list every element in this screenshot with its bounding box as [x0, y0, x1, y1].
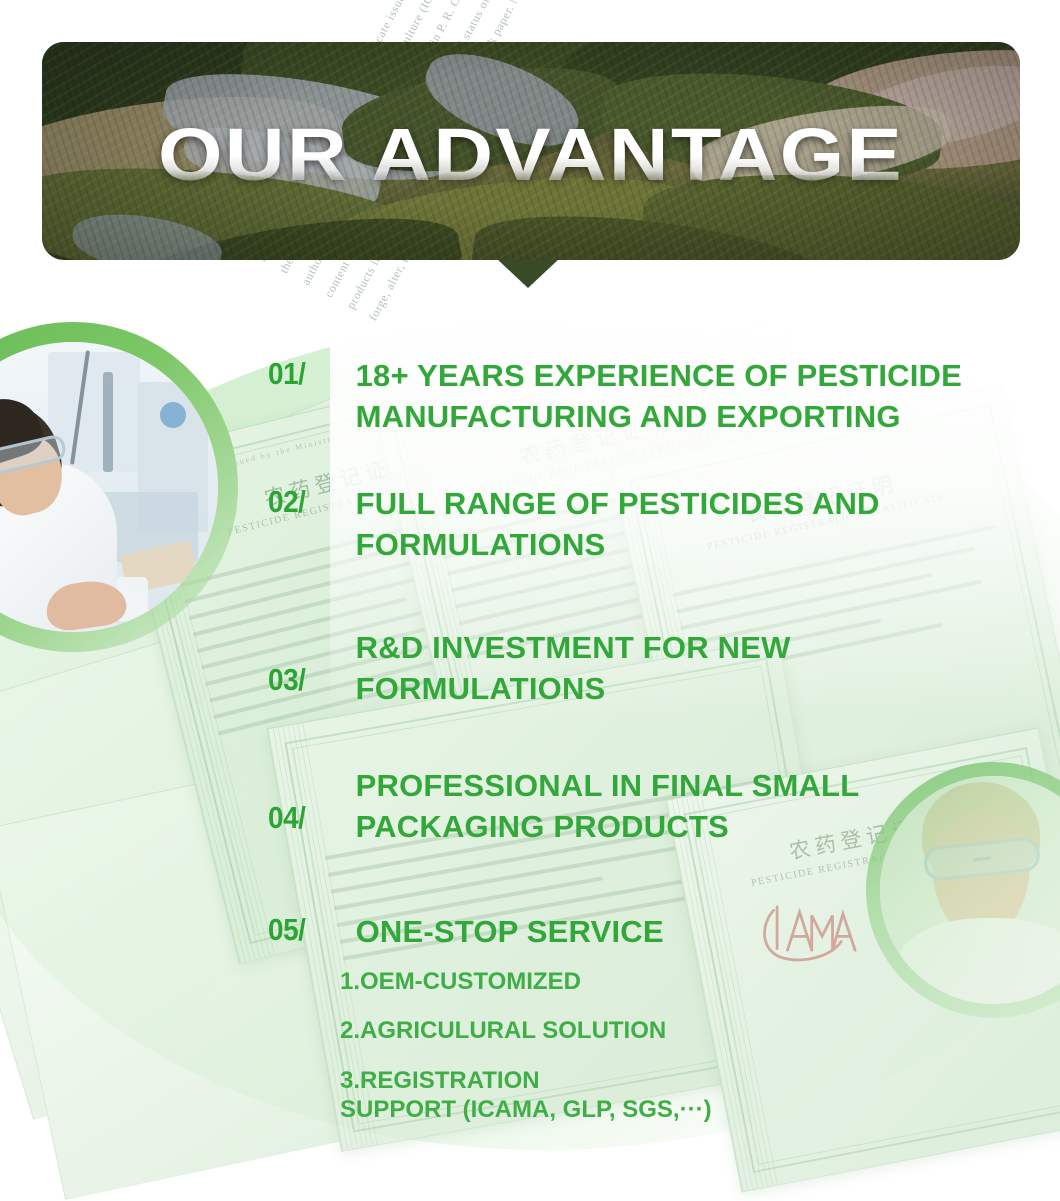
advantage-row: 01/ 18+ YEARS EXPERIENCE OF PESTICIDE MA… — [268, 356, 962, 438]
advantage-number: 02/ — [268, 484, 305, 520]
advantage-number: 04/ — [268, 800, 305, 836]
advantage-title: ONE-STOP SERVICE — [356, 912, 664, 953]
service-item: 3.REGISTRATION SUPPORT (ICAMA, GLP, SGS,… — [340, 1066, 712, 1125]
service-item: 2.AGRICULURAL SOLUTION — [340, 1017, 712, 1046]
advantage-row: 04/ PROFESSIONAL IN FINAL SMALL PACKAGIN… — [268, 766, 859, 848]
advantage-row: 02/ FULL RANGE OF PESTICIDES AND FORMULA… — [268, 484, 880, 566]
advantage-title: 18+ YEARS EXPERIENCE OF PESTICIDE MANUFA… — [356, 356, 962, 438]
advantage-title: PROFESSIONAL IN FINAL SMALL PACKAGING PR… — [356, 766, 860, 848]
advantage-title: FULL RANGE OF PESTICIDES AND FORMULATION… — [356, 484, 880, 566]
advantage-title: R&D INVESTMENT FOR NEW FORMULATIONS — [356, 628, 791, 710]
advantage-number: 01/ — [268, 356, 305, 392]
advantages-list: 01/ 18+ YEARS EXPERIENCE OF PESTICIDE MA… — [0, 0, 1060, 1201]
advantage-page: 中华人民共和国农业农村部文件 Issued by the Ministry of… — [0, 0, 1060, 1201]
advantage-number: 05/ — [268, 912, 305, 948]
service-sublist: 1.OEM-CUSTOMIZED 2.AGRICULURAL SOLUTION … — [340, 968, 712, 1124]
service-item: 1.OEM-CUSTOMIZED — [340, 968, 712, 997]
advantage-number: 03/ — [268, 662, 305, 698]
advantage-row: 03/ R&D INVESTMENT FOR NEW FORMULATIONS — [268, 628, 791, 710]
advantage-row: 05/ ONE-STOP SERVICE — [268, 912, 664, 953]
